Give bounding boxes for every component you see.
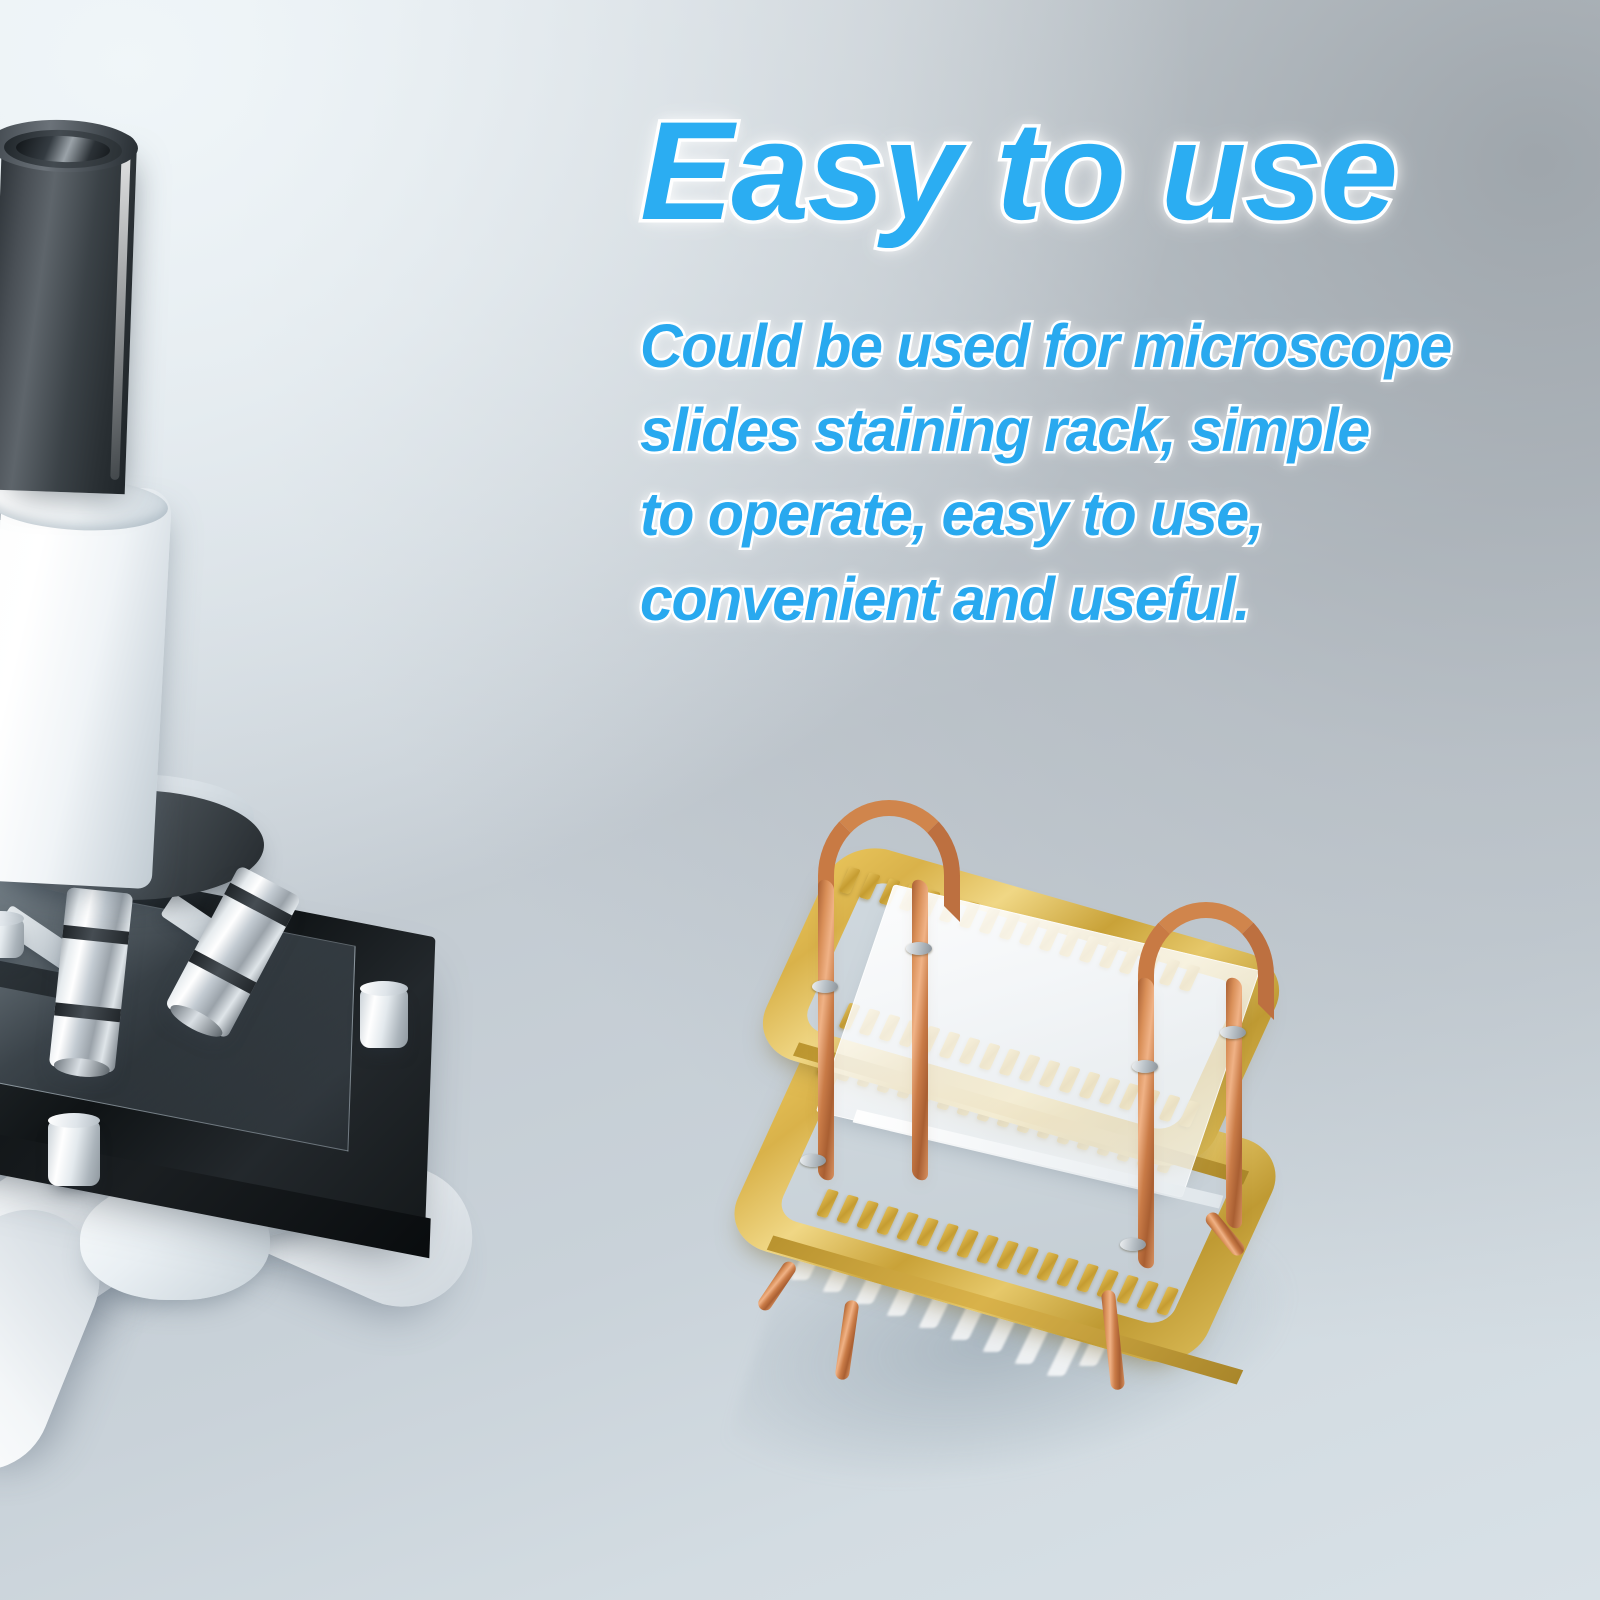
description-line: convenient and useful. <box>640 568 1494 630</box>
description-line: Could be used for microscope <box>640 315 1494 377</box>
copper-handle <box>818 800 960 922</box>
product-banner: Easy to use Could be used for microscope… <box>0 0 1600 1600</box>
copper-handle-leg <box>1138 976 1154 1270</box>
microscope-body-tube <box>0 481 172 889</box>
stage-clip-knob <box>360 988 408 1048</box>
rivet <box>1120 1238 1146 1251</box>
stage-clip-knob <box>0 918 24 958</box>
staining-rack-illustration <box>740 770 1300 1490</box>
page-title: Easy to use <box>640 104 1520 237</box>
copper-handle-leg <box>912 878 928 1182</box>
description-line: to operate, easy to use, <box>640 483 1494 545</box>
microscope-illustration <box>0 90 550 1510</box>
rivet <box>812 980 838 993</box>
rivet <box>1220 1026 1246 1039</box>
marketing-copy: Easy to use Could be used for microscope… <box>640 104 1520 630</box>
stage-clip-knob <box>48 1120 100 1186</box>
rivet <box>800 1154 826 1167</box>
copper-handle-leg <box>1226 976 1242 1230</box>
description-line: slides staining rack, simple <box>640 399 1494 461</box>
description-block: Could be used for microscope slides stai… <box>640 315 1520 630</box>
copper-handle-leg <box>818 878 834 1182</box>
rivet <box>906 942 932 955</box>
copper-handle <box>1138 902 1274 1020</box>
rivet <box>1132 1060 1158 1073</box>
